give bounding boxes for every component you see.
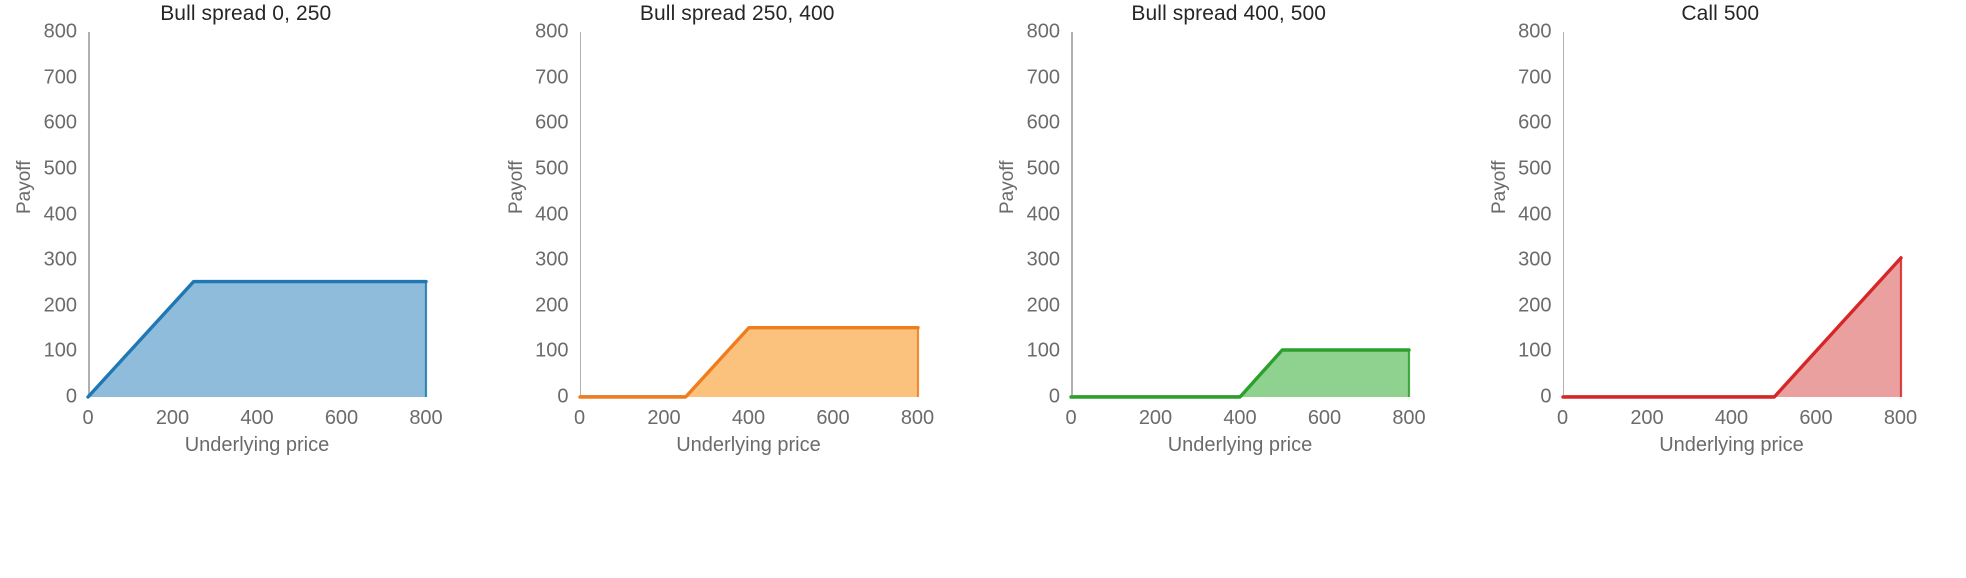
x-tick-label: 400 bbox=[1223, 407, 1256, 430]
x-tick-label: 800 bbox=[409, 407, 442, 430]
y-tick-label: 600 bbox=[44, 112, 77, 135]
plot-area: 01002003004005006007008000200400600800 bbox=[1071, 32, 1409, 397]
y-tick-label: 600 bbox=[1027, 112, 1060, 135]
x-tick-label: 0 bbox=[1557, 407, 1568, 430]
y-tick-label: 400 bbox=[44, 203, 77, 226]
series-plot bbox=[88, 32, 426, 397]
chart-panel: Call 500 Payoff 010020030040050060070080… bbox=[1475, 0, 1966, 578]
plot-area: 01002003004005006007008000200400600800 bbox=[1563, 32, 1901, 397]
y-tick-label: 300 bbox=[44, 249, 77, 272]
y-tick-label: 100 bbox=[1518, 340, 1551, 363]
y-tick-label: 100 bbox=[1027, 340, 1060, 363]
y-tick-label: 400 bbox=[1027, 203, 1060, 226]
plot-area: 01002003004005006007008000200400600800 bbox=[88, 32, 426, 397]
y-tick-label: 0 bbox=[66, 386, 77, 409]
series-plot bbox=[580, 32, 918, 397]
y-tick-label: 800 bbox=[1027, 21, 1060, 44]
x-tick-label: 200 bbox=[647, 407, 680, 430]
x-tick-label: 600 bbox=[325, 407, 358, 430]
y-tick-label: 700 bbox=[535, 66, 568, 89]
y-tick-label: 700 bbox=[1027, 66, 1060, 89]
y-tick-label: 400 bbox=[535, 203, 568, 226]
x-tick-label: 600 bbox=[1799, 407, 1832, 430]
x-axis-label: Underlying price bbox=[1563, 434, 1901, 457]
x-tick-label: 200 bbox=[1139, 407, 1172, 430]
series-plot bbox=[1563, 32, 1901, 397]
y-tick-label: 800 bbox=[1518, 21, 1551, 44]
x-tick-label: 800 bbox=[1884, 407, 1917, 430]
y-tick-label: 200 bbox=[1518, 294, 1551, 317]
y-axis-label: Payoff bbox=[997, 160, 1019, 214]
x-tick-label: 400 bbox=[240, 407, 273, 430]
x-tick-label: 600 bbox=[816, 407, 849, 430]
x-tick-label: 0 bbox=[1065, 407, 1076, 430]
y-tick-label: 500 bbox=[1518, 157, 1551, 180]
y-tick-label: 800 bbox=[44, 21, 77, 44]
y-tick-label: 700 bbox=[44, 66, 77, 89]
y-tick-label: 500 bbox=[535, 157, 568, 180]
y-tick-label: 100 bbox=[535, 340, 568, 363]
x-tick-label: 400 bbox=[1715, 407, 1748, 430]
y-tick-label: 200 bbox=[44, 294, 77, 317]
y-tick-label: 200 bbox=[535, 294, 568, 317]
y-tick-label: 100 bbox=[44, 340, 77, 363]
series-fill bbox=[1071, 350, 1409, 397]
y-tick-label: 400 bbox=[1518, 203, 1551, 226]
y-tick-label: 600 bbox=[535, 112, 568, 135]
y-tick-label: 700 bbox=[1518, 66, 1551, 89]
y-tick-label: 500 bbox=[44, 157, 77, 180]
x-axis-label: Underlying price bbox=[1071, 434, 1409, 457]
y-tick-label: 600 bbox=[1518, 112, 1551, 135]
x-tick-label: 400 bbox=[732, 407, 765, 430]
y-tick-label: 0 bbox=[557, 386, 568, 409]
y-tick-label: 500 bbox=[1027, 157, 1060, 180]
y-tick-label: 800 bbox=[535, 21, 568, 44]
x-tick-label: 800 bbox=[1392, 407, 1425, 430]
chart-panel: Bull spread 250, 400 Payoff 010020030040… bbox=[492, 0, 984, 578]
x-axis-label: Underlying price bbox=[88, 434, 426, 457]
x-tick-label: 0 bbox=[574, 407, 585, 430]
chart-panel: Bull spread 0, 250 Payoff 01002003004005… bbox=[0, 0, 492, 578]
series-plot bbox=[1071, 32, 1409, 397]
y-tick-label: 300 bbox=[1518, 249, 1551, 272]
y-tick-label: 300 bbox=[535, 249, 568, 272]
series-fill bbox=[1563, 258, 1901, 397]
y-axis-label: Payoff bbox=[506, 160, 528, 214]
x-tick-label: 0 bbox=[82, 407, 93, 430]
x-tick-label: 200 bbox=[1630, 407, 1663, 430]
y-tick-label: 0 bbox=[1540, 386, 1551, 409]
plot-area: 01002003004005006007008000200400600800 bbox=[580, 32, 918, 397]
x-tick-label: 800 bbox=[901, 407, 934, 430]
series-fill bbox=[580, 328, 918, 397]
y-tick-label: 200 bbox=[1027, 294, 1060, 317]
y-axis-label: Payoff bbox=[1489, 160, 1511, 214]
chart-panel: Bull spread 400, 500 Payoff 010020030040… bbox=[983, 0, 1475, 578]
payoff-diagram-figure: Bull spread 0, 250 Payoff 01002003004005… bbox=[0, 0, 1966, 578]
x-tick-label: 200 bbox=[156, 407, 189, 430]
y-tick-label: 0 bbox=[1049, 386, 1060, 409]
x-axis-label: Underlying price bbox=[580, 434, 918, 457]
y-tick-label: 300 bbox=[1027, 249, 1060, 272]
x-tick-label: 600 bbox=[1308, 407, 1341, 430]
y-axis-label: Payoff bbox=[14, 160, 36, 214]
